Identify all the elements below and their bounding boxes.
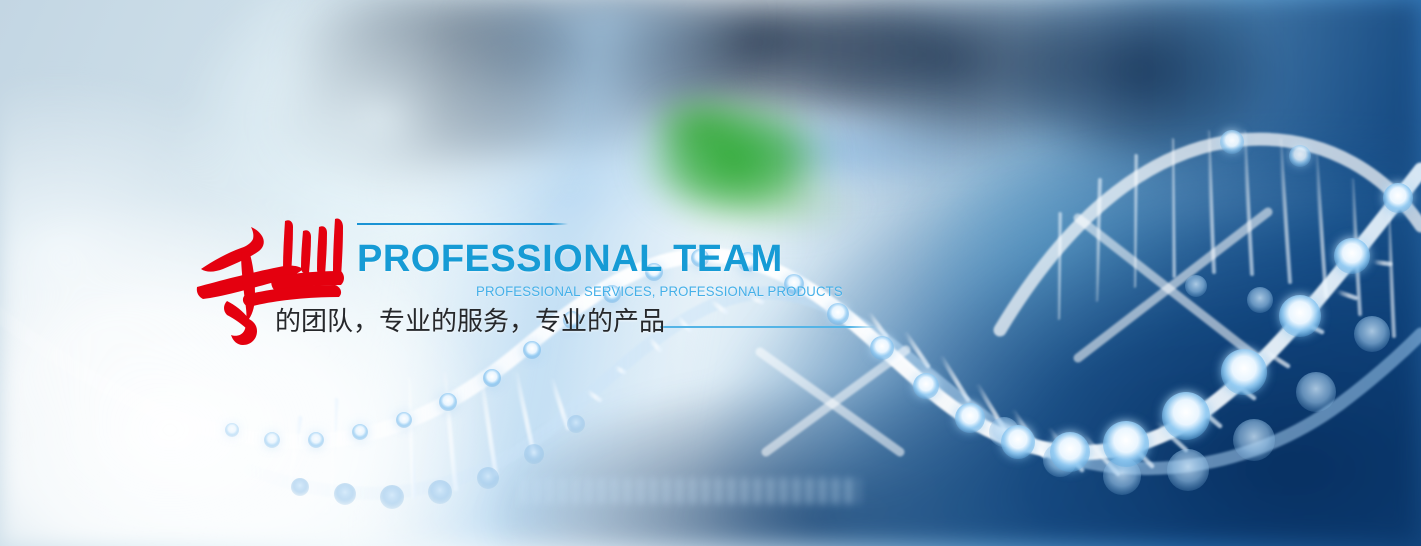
title-rule-bottom: [660, 326, 876, 328]
promo-banner: PROFESSIONAL TEAM PROFESSIONAL SERVICES,…: [0, 0, 1421, 546]
banner-subtitle: PROFESSIONAL SERVICES, PROFESSIONAL PROD…: [476, 284, 843, 298]
title-rule-top: [357, 223, 568, 225]
banner-chinese-tagline: 的团队，专业的服务，专业的产品: [275, 307, 665, 336]
banner-title: PROFESSIONAL TEAM: [357, 240, 783, 278]
